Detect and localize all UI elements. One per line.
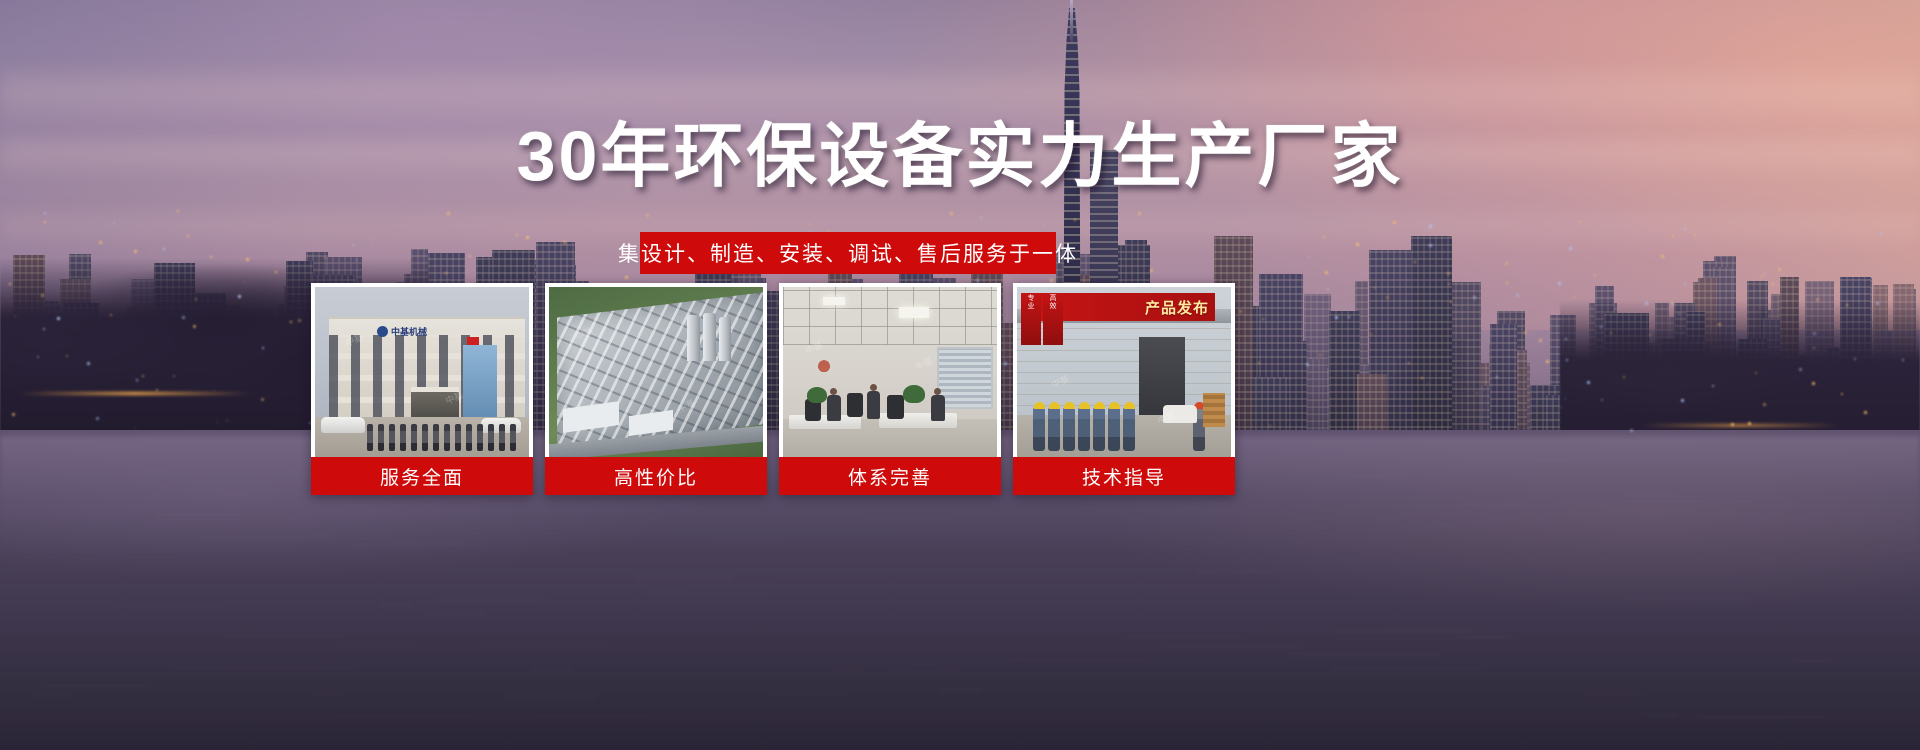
workshop-banner: 产品发布 bbox=[1039, 293, 1215, 321]
feature-card-label: 服务全面 bbox=[311, 457, 533, 495]
feature-card-row: 中基机械 中基 中基 服务全面 bbox=[311, 283, 1274, 495]
bridge-glow bbox=[1640, 424, 1840, 427]
feature-card[interactable]: 中基 中基 体系完善 bbox=[779, 283, 1001, 495]
office-building-photo: 中基机械 中基 中基 bbox=[315, 287, 529, 457]
tower-spire bbox=[1070, 0, 1073, 42]
subtitle-badge: 集设计、制造、安装、调试、售后服务于一体 bbox=[640, 232, 1056, 274]
company-logo-icon bbox=[377, 326, 388, 337]
hero-banner: 30年环保设备实力生产厂家 集设计、制造、安装、调试、售后服务于一体 中基机械 bbox=[0, 0, 1920, 750]
company-sign: 中基机械 bbox=[377, 325, 463, 338]
page-title: 30年环保设备实力生产厂家 bbox=[0, 100, 1920, 201]
feature-card[interactable]: 产品发布 专业 高效 中基 中基 技术指导 bbox=[1013, 283, 1235, 495]
company-sign-text: 中基机械 bbox=[391, 325, 427, 338]
workshop-banner-text: 产品发布 bbox=[1145, 297, 1209, 318]
subtitle-text: 集设计、制造、安装、调试、售后服务于一体 bbox=[618, 238, 1078, 268]
feature-card[interactable]: 中基 中基 高性价比 bbox=[545, 283, 767, 495]
feature-card-label: 技术指导 bbox=[1013, 457, 1235, 495]
wall-decal-icon bbox=[811, 353, 837, 375]
workshop-workers-photo: 产品发布 专业 高效 中基 中基 bbox=[1017, 287, 1231, 457]
aerial-plant-photo: 中基 中基 bbox=[549, 287, 763, 457]
office-interior-photo: 中基 中基 bbox=[783, 287, 997, 457]
bridge-glow bbox=[20, 392, 250, 395]
feature-card-label: 高性价比 bbox=[545, 457, 767, 495]
feature-card[interactable]: 中基机械 中基 中基 服务全面 bbox=[311, 283, 533, 495]
feature-card-label: 体系完善 bbox=[779, 457, 1001, 495]
